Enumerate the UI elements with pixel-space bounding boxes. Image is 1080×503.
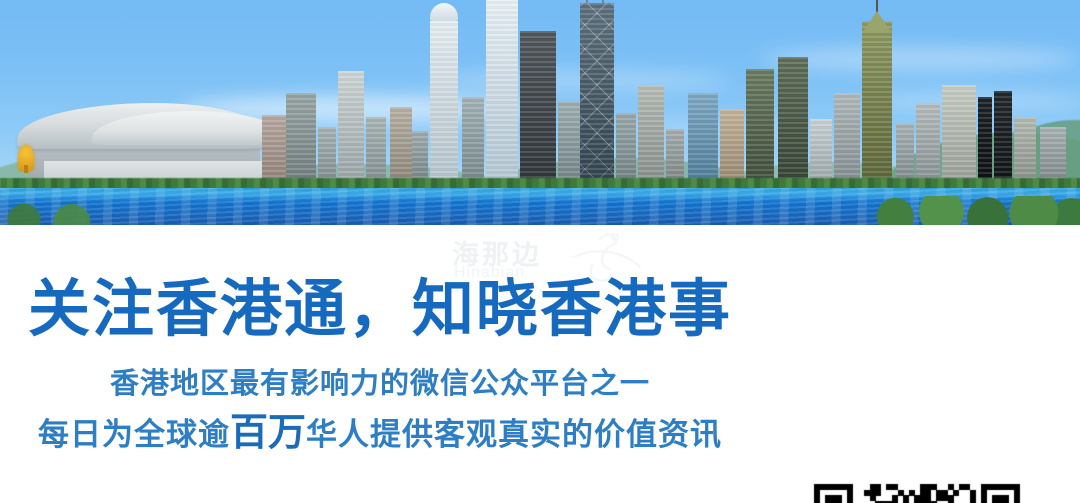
skyline-building (978, 97, 992, 189)
skyline-building (558, 101, 580, 189)
golden-bauhinia-statue (18, 145, 34, 171)
skyline-building (720, 109, 744, 189)
bank-of-china-lattice (580, 3, 614, 189)
skyline-building (486, 0, 518, 189)
subtitle-line-2: 每日为全球逾百万华人提供客观真实的价值资讯 (0, 408, 760, 459)
skyline-building (390, 107, 412, 189)
central-plaza-pyramid-cap (862, 11, 892, 33)
skyline-building (638, 85, 664, 189)
subtitle-line-2-suffix: 华人提供客观真实的价值资讯 (306, 417, 722, 452)
wechat-qr-code[interactable]: 香港通 HKXianggang (803, 473, 1031, 503)
qr-code-canvas[interactable] (803, 473, 1031, 503)
subtitle-emphasis: 百万 (230, 412, 306, 454)
promo-text-panel: 海那边 Hinabian 关注香港通，知晓香港事 香港地区最有影响力的微信公众平… (0, 225, 1080, 503)
skyline-building (286, 93, 316, 189)
skyline-building (778, 57, 808, 189)
skyline-building (916, 103, 940, 189)
subtitle-line-2-prefix: 每日为全球逾 (38, 417, 230, 452)
skyline-building (462, 97, 484, 189)
watermark-chinese-text: 海那边 (452, 233, 542, 272)
page-subtitle: 香港地区最有影响力的微信公众平台之一 每日为全球逾百万华人提供客观真实的价值资讯 (0, 365, 760, 459)
skyline-building (338, 71, 364, 189)
foreground-foliage-left (0, 200, 120, 225)
ifc-tower-crown (430, 3, 458, 21)
skyline-building (834, 93, 860, 189)
skyline-building (430, 21, 458, 189)
skyline-building (994, 91, 1012, 189)
skyline-building (520, 31, 556, 189)
skyline-building (746, 69, 774, 189)
page-headline: 关注香港通，知晓香港事 (0, 279, 760, 341)
skyline-building (942, 85, 976, 189)
foreground-foliage-right (870, 196, 1080, 225)
skyline-building (688, 93, 718, 189)
subtitle-line-1: 香港地区最有影响力的微信公众平台之一 (0, 365, 760, 404)
promo-banner-page: 海那边 Hinabian 关注香港通，知晓香港事 香港地区最有影响力的微信公众平… (0, 0, 1080, 503)
hong-kong-skyline-banner (0, 0, 1080, 225)
skyline-buildings (0, 0, 1080, 189)
skyline-building (862, 21, 892, 189)
